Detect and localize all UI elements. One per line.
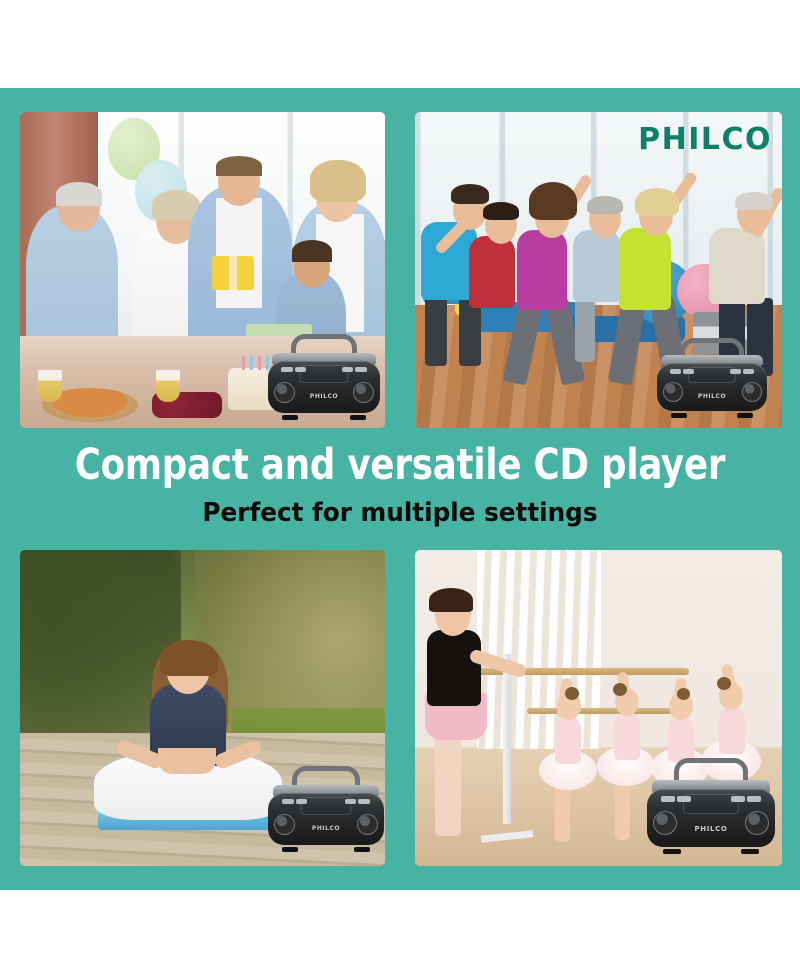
boombox-body: PHILCO — [268, 793, 384, 845]
product-boombox: PHILCO — [657, 338, 767, 418]
boombox-button[interactable] — [683, 369, 694, 374]
instructor-leotard — [427, 630, 481, 706]
boombox-button[interactable] — [282, 799, 294, 804]
boombox-button[interactable] — [295, 367, 306, 372]
torso — [619, 228, 671, 310]
product-boombox: PHILCO — [268, 334, 380, 420]
boombox-brand-label: PHILCO — [647, 825, 775, 833]
gift-box-yellow — [212, 256, 254, 290]
boombox-button[interactable] — [677, 796, 691, 802]
scene-group-fitness-class: PHILCO PHILCO — [415, 112, 782, 428]
wine-glass-right — [156, 370, 180, 402]
man-hair — [216, 156, 262, 176]
boombox-buttons-left — [282, 799, 308, 804]
torso — [469, 236, 515, 308]
product-boombox: PHILCO — [268, 766, 384, 852]
boombox-body: PHILCO — [657, 363, 767, 411]
man-shirt — [216, 198, 262, 308]
ballet-instructor — [421, 586, 531, 852]
photo-panel-top-left: PHILCO — [20, 112, 385, 428]
boombox-button[interactable] — [661, 796, 675, 802]
boombox-button[interactable] — [670, 369, 681, 374]
boombox-foot-left — [671, 413, 687, 418]
hair — [635, 188, 679, 216]
photo-panel-bottom-left: PHILCO — [20, 550, 385, 866]
young-dancer-1 — [539, 652, 597, 842]
boombox-button[interactable] — [731, 796, 745, 802]
scene-outdoor-yoga: PHILCO — [20, 550, 385, 866]
dancer-hair-bun — [613, 683, 627, 696]
boombox-button[interactable] — [730, 369, 741, 374]
dancer-hair-bun — [565, 687, 579, 700]
boombox-body: PHILCO — [268, 361, 380, 413]
boombox-buttons-right — [345, 799, 371, 804]
boombox-buttons-left — [281, 367, 306, 372]
instructor-hair — [429, 588, 473, 612]
scene-childrens-ballet-class: PHILCO — [415, 550, 782, 866]
boombox-foot-right — [350, 415, 366, 420]
boombox-foot-right — [354, 847, 370, 852]
boombox-button[interactable] — [747, 796, 761, 802]
instructor-leg — [435, 734, 461, 836]
photo-panel-top-right: PHILCO PHILCO — [415, 112, 782, 428]
dancer-leotard — [614, 712, 640, 760]
boombox-foot-right — [741, 849, 759, 854]
boombox-foot-left — [663, 849, 681, 854]
boombox-foot-right — [737, 413, 753, 418]
hair — [587, 196, 623, 214]
torso — [573, 230, 621, 302]
boombox-buttons-right — [731, 796, 760, 802]
boombox-button[interactable] — [342, 367, 353, 372]
headline: Compact and versatile CD player — [32, 440, 768, 490]
boombox-buttons-left — [661, 796, 690, 802]
boombox-foot-left — [282, 415, 298, 420]
woman-hair — [310, 160, 366, 202]
woman-midriff — [158, 748, 216, 774]
boombox-brand-label: PHILCO — [268, 825, 384, 832]
product-marketing-image: PHILCO — [0, 0, 800, 977]
boombox-body: PHILCO — [647, 789, 775, 847]
torso — [709, 228, 765, 304]
boombox-button[interactable] — [281, 367, 292, 372]
boombox-buttons-right — [342, 367, 367, 372]
woman-hair-top — [160, 640, 218, 676]
boombox-buttons-left — [670, 369, 694, 374]
dancer-leotard — [555, 716, 581, 764]
boombox-brand-label: PHILCO — [268, 393, 380, 400]
leg — [575, 300, 595, 362]
boy-hair — [292, 240, 332, 262]
dancer-leotard — [719, 706, 745, 754]
boombox-buttons-right — [730, 369, 754, 374]
dancer-hair-bun — [677, 688, 690, 700]
subtitle: Perfect for multiple settings — [20, 497, 780, 529]
photo-panel-bottom-right: PHILCO — [415, 550, 782, 866]
boombox-button[interactable] — [296, 799, 308, 804]
boombox-button[interactable] — [743, 369, 754, 374]
boombox-button[interactable] — [355, 367, 366, 372]
hair — [451, 184, 489, 204]
dancer-hair-bun — [717, 677, 731, 690]
scene-family-birthday-party: PHILCO — [20, 112, 385, 428]
product-boombox: PHILCO — [647, 758, 775, 854]
philco-logo: PHILCO — [638, 122, 772, 157]
wine-glass-left — [38, 370, 62, 402]
dancer-leotard — [668, 716, 694, 762]
grandfather-hair — [56, 182, 102, 206]
hair — [735, 192, 773, 210]
torso — [517, 230, 567, 310]
boombox-brand-label: PHILCO — [657, 393, 767, 400]
boombox-foot-left — [282, 847, 298, 852]
hair — [529, 182, 577, 220]
hair — [483, 202, 519, 220]
leg — [425, 296, 447, 366]
boombox-button[interactable] — [345, 799, 357, 804]
boombox-button[interactable] — [358, 799, 370, 804]
